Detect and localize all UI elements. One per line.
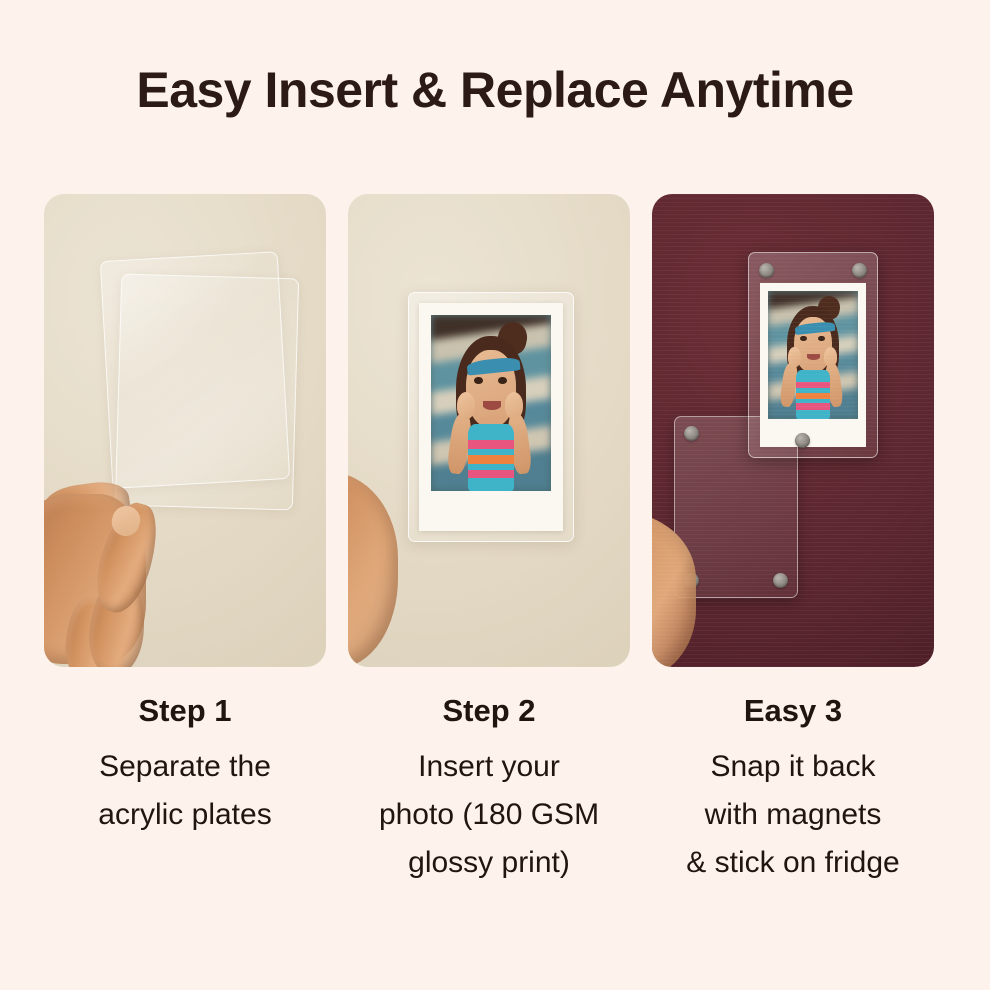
step-2-image-panel (348, 194, 630, 667)
magnet (795, 433, 810, 448)
magnet (684, 426, 699, 441)
steps-image-row (44, 194, 950, 667)
hand-on-cheek (788, 347, 802, 366)
eye (818, 336, 824, 341)
stripe (468, 470, 514, 479)
step-3-image-panel (652, 194, 934, 667)
step-1-image-panel (44, 194, 326, 667)
eye (800, 336, 806, 341)
striped-top (796, 370, 830, 419)
stripe (796, 403, 830, 409)
photo-image (768, 291, 858, 419)
infographic-root: Easy Insert & Replace Anytime (0, 0, 990, 990)
polaroid-print (760, 283, 866, 447)
step-2-caption: Step 2 Insert your photo (180 GSM glossy… (348, 692, 630, 887)
photo-subject-girl (431, 315, 551, 491)
palm (44, 494, 146, 664)
magnet (773, 573, 788, 588)
step-2-body: Insert your photo (180 GSM glossy print) (348, 743, 630, 887)
finger (348, 457, 351, 519)
magnet (759, 263, 774, 278)
mouth (483, 401, 501, 410)
step-3-body: Snap it back with magnets & stick on fri… (652, 743, 934, 887)
photo-subject-girl (768, 291, 858, 419)
eye (474, 377, 482, 384)
mounted-photo-frame (748, 252, 878, 458)
palm (348, 472, 398, 667)
finger (64, 597, 118, 667)
finger (47, 529, 128, 576)
step-3-title: Easy 3 (652, 692, 934, 729)
acrylic-frame (408, 292, 574, 542)
page-title: Easy Insert & Replace Anytime (0, 62, 990, 120)
thumb (88, 497, 167, 618)
striped-top (468, 424, 514, 491)
step-3-caption: Easy 3 Snap it back with magnets & stick… (652, 692, 934, 887)
steps-caption-row: Step 1 Separate the acrylic plates Step … (44, 692, 950, 887)
hand-on-cheek (505, 392, 523, 418)
step-1-body: Separate the acrylic plates (44, 743, 326, 839)
thumb-nail (108, 503, 143, 540)
hand-on-cheek (457, 392, 475, 418)
step-1-title: Step 1 (44, 692, 326, 729)
magnet (852, 263, 867, 278)
acrylic-plate-front (115, 274, 299, 511)
stripe (468, 455, 514, 464)
eye (498, 377, 506, 384)
step-1-caption: Step 1 Separate the acrylic plates (44, 692, 326, 887)
stripe (468, 440, 514, 449)
photo-image (431, 315, 551, 491)
finger (85, 577, 149, 667)
stripe (796, 382, 830, 388)
magnet (684, 573, 699, 588)
stripe (796, 393, 830, 399)
step-2-title: Step 2 (348, 692, 630, 729)
hand-on-cheek (824, 347, 838, 366)
polaroid-print (419, 303, 563, 531)
